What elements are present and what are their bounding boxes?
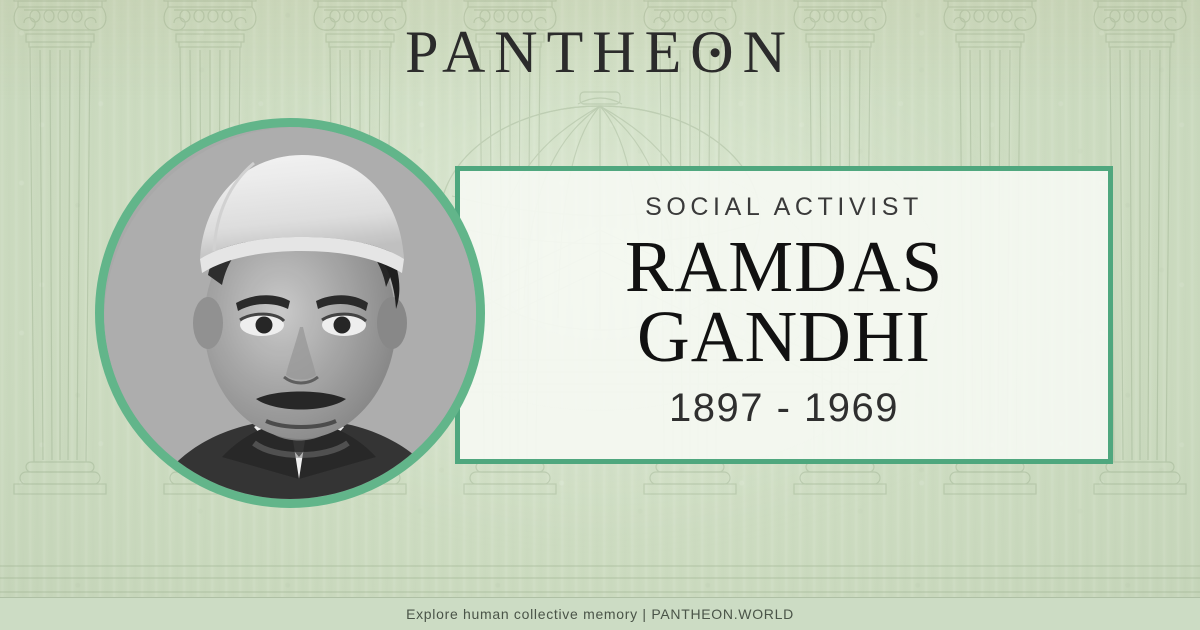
- pantheon-card: PANTHEON: [0, 0, 1200, 630]
- pantheon-logo[interactable]: PANTHEON: [0, 22, 1200, 82]
- lifespan-label: 1897 - 1969: [669, 386, 899, 431]
- info-card: SOCIAL ACTIVIST RAMDAS GANDHI 1897 - 196…: [455, 166, 1113, 464]
- footer-text[interactable]: Explore human collective memory | PANTHE…: [406, 606, 794, 622]
- logo-text-lead: PANTHE: [405, 19, 690, 85]
- oculus-dot-icon: [711, 48, 720, 57]
- logo-text-tail: N: [743, 19, 795, 85]
- logo-oculus: O: [690, 22, 742, 82]
- portrait-avatar[interactable]: [95, 118, 485, 508]
- footer-bar: Explore human collective memory | PANTHE…: [0, 597, 1200, 630]
- person-name: RAMDAS GANDHI: [625, 232, 943, 372]
- person-name-line-2: GANDHI: [625, 302, 943, 372]
- occupation-label: SOCIAL ACTIVIST: [645, 193, 923, 222]
- portrait-photo: [104, 127, 485, 508]
- person-name-line-1: RAMDAS: [625, 232, 943, 302]
